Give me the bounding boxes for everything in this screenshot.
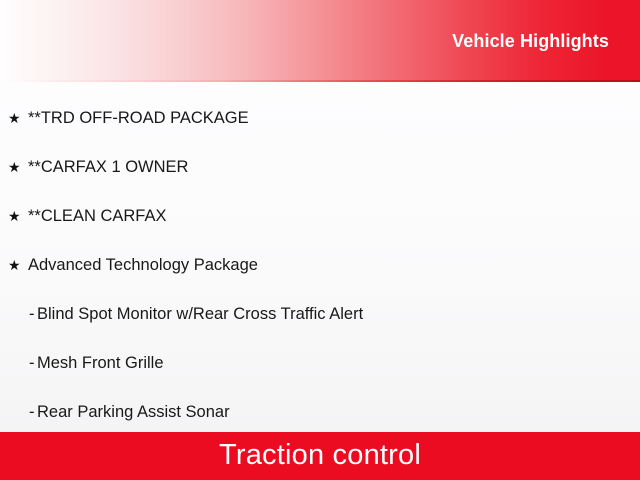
dash-bullet-icon: - (29, 388, 37, 432)
highlights-list: ★**TRD OFF-ROAD PACKAGE★**CARFAX 1 OWNER… (0, 94, 640, 432)
page-title: Vehicle Highlights (452, 32, 609, 50)
dash-bullet-icon: - (29, 339, 37, 388)
vehicle-highlights-slide: Vehicle Highlights ★**TRD OFF-ROAD PACKA… (0, 0, 640, 480)
list-item: ★**CARFAX 1 OWNER (0, 143, 640, 192)
list-item: -Rear Parking Assist Sonar (0, 388, 640, 432)
list-item: -Blind Spot Monitor w/Rear Cross Traffic… (0, 290, 640, 339)
list-item-label: **CLEAN CARFAX (28, 192, 166, 241)
list-item: ★Advanced Technology Package (0, 241, 640, 290)
footer-banner-label: Traction control (219, 441, 421, 470)
star-bullet-icon: ★ (8, 143, 28, 192)
list-item: ★**CLEAN CARFAX (0, 192, 640, 241)
list-item: ★**TRD OFF-ROAD PACKAGE (0, 94, 640, 143)
list-item-label: **CARFAX 1 OWNER (28, 143, 188, 192)
list-item-label: Mesh Front Grille (37, 339, 164, 388)
list-item-label: Blind Spot Monitor w/Rear Cross Traffic … (37, 290, 363, 339)
dash-bullet-icon: - (29, 290, 37, 339)
star-bullet-icon: ★ (8, 192, 28, 241)
footer-banner: Traction control (0, 432, 640, 480)
highlights-panel: ★**TRD OFF-ROAD PACKAGE★**CARFAX 1 OWNER… (0, 82, 640, 432)
header-bar: Vehicle Highlights (0, 0, 640, 82)
list-item-label: Advanced Technology Package (28, 241, 258, 290)
star-bullet-icon: ★ (8, 241, 28, 290)
list-item: -Mesh Front Grille (0, 339, 640, 388)
list-item-label: **TRD OFF-ROAD PACKAGE (28, 94, 249, 143)
star-bullet-icon: ★ (8, 94, 28, 143)
list-item-label: Rear Parking Assist Sonar (37, 388, 230, 432)
